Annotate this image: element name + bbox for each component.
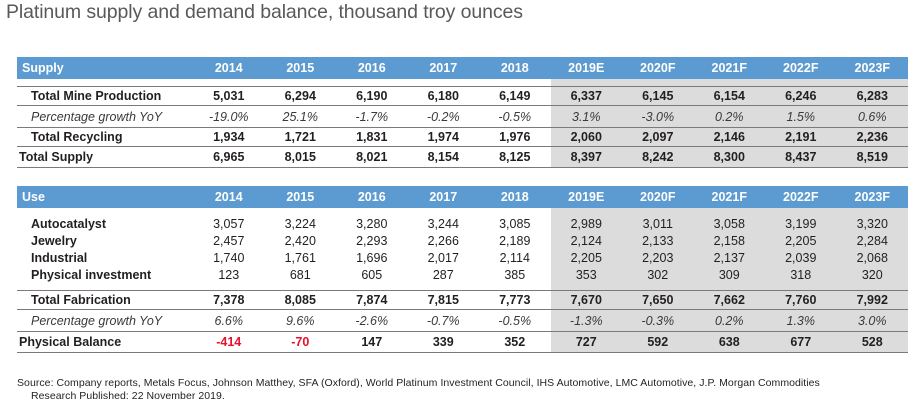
cell-2019E: 353: [551, 266, 623, 283]
cell-2020F: 302: [622, 266, 694, 283]
cell-2023F: 8,519: [837, 147, 909, 168]
cell-2017: 2,017: [408, 249, 480, 266]
cell-2019E: 2,205: [551, 249, 623, 266]
spacer-row: [17, 283, 908, 291]
use-header-row: Use 2014 2015 2016 2017 2018 2019E 2020F…: [17, 186, 908, 208]
cell-2015: 6,294: [265, 87, 337, 106]
spacer-cell: [622, 79, 694, 87]
cell-2018: 7,773: [479, 291, 551, 310]
supply-header-row: Supply 2014 2015 2016 2017 2018 2019E 20…: [17, 57, 908, 79]
row-label: Jewelry: [17, 232, 193, 249]
cell-2017: 7,815: [408, 291, 480, 310]
cell-2022F: 318: [765, 266, 837, 283]
cell-2015: 1,761: [265, 249, 337, 266]
cell-2020F: 2,097: [622, 128, 694, 147]
source-line-2: Research Published: 22 November 2019.: [17, 390, 912, 403]
spacer-cell: [765, 79, 837, 87]
cell-2023F: 6,283: [837, 87, 909, 106]
cell-2016: 147: [336, 332, 408, 353]
cell-2022F: 2,205: [765, 232, 837, 249]
spacer-cell: [837, 283, 909, 291]
spacer-cell: [479, 283, 551, 291]
cell-2022F: 6,246: [765, 87, 837, 106]
cell-2014: 6,965: [193, 147, 265, 168]
cell-2022F: 1.3%: [765, 310, 837, 332]
cell-2020F: -3.0%: [622, 106, 694, 128]
cell-2023F: 3,320: [837, 215, 909, 232]
spacer-cell: [622, 283, 694, 291]
spacer-cell: [336, 79, 408, 87]
cell-2016: 605: [336, 266, 408, 283]
cell-2016: -1.7%: [336, 106, 408, 128]
cell-2021F: 7,662: [694, 291, 766, 310]
spacer-cell: [17, 283, 193, 291]
use-column-header-2015: 2015: [265, 186, 337, 208]
table-row: Total Supply6,9658,0158,0218,1548,1258,3…: [17, 147, 908, 168]
cell-2017: 287: [408, 266, 480, 283]
cell-2020F: 2,133: [622, 232, 694, 249]
column-header-2023F: 2023F: [837, 57, 909, 79]
table-row: Physical investment123681605287385353302…: [17, 266, 908, 283]
spacer-cell: [551, 79, 623, 87]
spacer-cell: [551, 283, 623, 291]
row-label: Physical investment: [17, 266, 193, 283]
spacer-cell: [479, 208, 551, 215]
cell-2014: -19.0%: [193, 106, 265, 128]
spacer-cell: [694, 79, 766, 87]
spacer-cell: [336, 283, 408, 291]
cell-2019E: 2,989: [551, 215, 623, 232]
supply-table: Supply 2014 2015 2016 2017 2018 2019E 20…: [17, 57, 908, 168]
cell-2014: -414: [193, 332, 265, 353]
cell-2021F: 309: [694, 266, 766, 283]
cell-2023F: 320: [837, 266, 909, 283]
cell-2016: 3,280: [336, 215, 408, 232]
cell-2017: 6,180: [408, 87, 480, 106]
cell-2015: 681: [265, 266, 337, 283]
cell-2022F: 1.5%: [765, 106, 837, 128]
spacer-cell: [765, 283, 837, 291]
cell-2020F: 7,650: [622, 291, 694, 310]
cell-2021F: 2,137: [694, 249, 766, 266]
cell-2019E: 8,397: [551, 147, 623, 168]
cell-2018: 1,976: [479, 128, 551, 147]
spacer-cell: [408, 79, 480, 87]
row-label: Total Recycling: [17, 128, 193, 147]
cell-2014: 3,057: [193, 215, 265, 232]
spacer-cell: [551, 208, 623, 215]
cell-2016: 1,696: [336, 249, 408, 266]
cell-2018: 2,189: [479, 232, 551, 249]
cell-2021F: 8,300: [694, 147, 766, 168]
cell-2017: 2,266: [408, 232, 480, 249]
cell-2017: 1,974: [408, 128, 480, 147]
cell-2016: 6,190: [336, 87, 408, 106]
table-row: Total Mine Production5,0316,2946,1906,18…: [17, 87, 908, 106]
column-header-2017: 2017: [408, 57, 480, 79]
column-header-2021F: 2021F: [694, 57, 766, 79]
spacer-cell: [408, 208, 480, 215]
spacer-cell: [17, 79, 193, 87]
source-footnote: Source: Company reports, Metals Focus, J…: [17, 377, 912, 403]
use-table-body: Autocatalyst3,0573,2243,2803,2443,0852,9…: [17, 208, 908, 353]
cell-2021F: 2,158: [694, 232, 766, 249]
spacer-row: [17, 79, 908, 87]
cell-2019E: 3.1%: [551, 106, 623, 128]
cell-2018: -0.5%: [479, 106, 551, 128]
cell-2016: -2.6%: [336, 310, 408, 332]
cell-2015: 25.1%: [265, 106, 337, 128]
spacer-cell: [408, 283, 480, 291]
spacer-cell: [694, 208, 766, 215]
cell-2015: -70: [265, 332, 337, 353]
cell-2020F: 6,145: [622, 87, 694, 106]
cell-2020F: 2,203: [622, 249, 694, 266]
use-header-label: Use: [17, 186, 193, 208]
cell-2019E: 7,670: [551, 291, 623, 310]
spacer-cell: [17, 208, 193, 215]
cell-2014: 1,740: [193, 249, 265, 266]
spacer-cell: [479, 79, 551, 87]
cell-2016: 1,831: [336, 128, 408, 147]
cell-2015: 1,721: [265, 128, 337, 147]
column-header-2015: 2015: [265, 57, 337, 79]
cell-2023F: 0.6%: [837, 106, 909, 128]
cell-2014: 7,378: [193, 291, 265, 310]
cell-2014: 123: [193, 266, 265, 283]
cell-2018: -0.5%: [479, 310, 551, 332]
use-column-header-2018: 2018: [479, 186, 551, 208]
column-header-2022F: 2022F: [765, 57, 837, 79]
spacer-cell: [193, 208, 265, 215]
use-column-header-2022F: 2022F: [765, 186, 837, 208]
cell-2021F: 0.2%: [694, 106, 766, 128]
table-row: Percentage growth YoY6.6%9.6%-2.6%-0.7%-…: [17, 310, 908, 332]
cell-2015: 3,224: [265, 215, 337, 232]
column-header-2019E: 2019E: [551, 57, 623, 79]
cell-2018: 8,125: [479, 147, 551, 168]
cell-2018: 3,085: [479, 215, 551, 232]
cell-2023F: 2,068: [837, 249, 909, 266]
cell-2022F: 3,199: [765, 215, 837, 232]
spacer-cell: [837, 79, 909, 87]
cell-2023F: 3.0%: [837, 310, 909, 332]
cell-2020F: 8,242: [622, 147, 694, 168]
use-column-header-2017: 2017: [408, 186, 480, 208]
cell-2022F: 677: [765, 332, 837, 353]
cell-2019E: 727: [551, 332, 623, 353]
row-label: Percentage growth YoY: [17, 106, 193, 128]
cell-2023F: 7,992: [837, 291, 909, 310]
cell-2018: 2,114: [479, 249, 551, 266]
column-header-2014: 2014: [193, 57, 265, 79]
cell-2020F: 592: [622, 332, 694, 353]
spacer-cell: [193, 283, 265, 291]
cell-2015: 9.6%: [265, 310, 337, 332]
cell-2019E: 6,337: [551, 87, 623, 106]
cell-2014: 1,934: [193, 128, 265, 147]
supply-header-label: Supply: [17, 57, 193, 79]
use-column-header-2021F: 2021F: [694, 186, 766, 208]
cell-2016: 7,874: [336, 291, 408, 310]
cell-2014: 2,457: [193, 232, 265, 249]
cell-2023F: 528: [837, 332, 909, 353]
spacer-cell: [265, 283, 337, 291]
cell-2022F: 7,760: [765, 291, 837, 310]
supply-table-container: Supply 2014 2015 2016 2017 2018 2019E 20…: [17, 57, 908, 168]
spacer-cell: [336, 208, 408, 215]
cell-2017: -0.2%: [408, 106, 480, 128]
cell-2017: 3,244: [408, 215, 480, 232]
cell-2019E: 2,060: [551, 128, 623, 147]
spacer-cell: [622, 208, 694, 215]
column-header-2018: 2018: [479, 57, 551, 79]
cell-2021F: 3,058: [694, 215, 766, 232]
cell-2021F: 6,154: [694, 87, 766, 106]
spacer-cell: [694, 283, 766, 291]
cell-2021F: 638: [694, 332, 766, 353]
cell-2023F: 2,284: [837, 232, 909, 249]
cell-2021F: 2,146: [694, 128, 766, 147]
cell-2016: 8,021: [336, 147, 408, 168]
row-label: Total Fabrication: [17, 291, 193, 310]
cell-2015: 8,015: [265, 147, 337, 168]
table-row: Percentage growth YoY-19.0%25.1%-1.7%-0.…: [17, 106, 908, 128]
table-page: Platinum supply and demand balance, thou…: [0, 0, 922, 408]
row-label: Industrial: [17, 249, 193, 266]
table-row: Jewelry2,4572,4202,2932,2662,1892,1242,1…: [17, 232, 908, 249]
cell-2019E: -1.3%: [551, 310, 623, 332]
spacer-row: [17, 208, 908, 215]
row-label: Total Supply: [17, 147, 193, 168]
spacer-cell: [265, 79, 337, 87]
column-header-2020F: 2020F: [622, 57, 694, 79]
use-table: Use 2014 2015 2016 2017 2018 2019E 2020F…: [17, 186, 908, 353]
cell-2017: 8,154: [408, 147, 480, 168]
cell-2023F: 2,236: [837, 128, 909, 147]
cell-2014: 5,031: [193, 87, 265, 106]
column-header-2016: 2016: [336, 57, 408, 79]
cell-2017: 339: [408, 332, 480, 353]
cell-2015: 2,420: [265, 232, 337, 249]
spacer-cell: [837, 208, 909, 215]
cell-2017: -0.7%: [408, 310, 480, 332]
spacer-cell: [765, 208, 837, 215]
use-column-header-2023F: 2023F: [837, 186, 909, 208]
cell-2022F: 2,191: [765, 128, 837, 147]
row-label: Autocatalyst: [17, 215, 193, 232]
cell-2016: 2,293: [336, 232, 408, 249]
supply-table-body: Total Mine Production5,0316,2946,1906,18…: [17, 79, 908, 168]
cell-2014: 6.6%: [193, 310, 265, 332]
source-line-1: Source: Company reports, Metals Focus, J…: [17, 377, 912, 390]
row-label: Percentage growth YoY: [17, 310, 193, 332]
table-row: Autocatalyst3,0573,2243,2803,2443,0852,9…: [17, 215, 908, 232]
use-column-header-2014: 2014: [193, 186, 265, 208]
cell-2018: 385: [479, 266, 551, 283]
table-row: Physical Balance-414-7014733935272759263…: [17, 332, 908, 353]
cell-2022F: 2,039: [765, 249, 837, 266]
cell-2018: 6,149: [479, 87, 551, 106]
cell-2022F: 8,437: [765, 147, 837, 168]
cell-2018: 352: [479, 332, 551, 353]
use-column-header-2020F: 2020F: [622, 186, 694, 208]
cell-2020F: -0.3%: [622, 310, 694, 332]
row-label: Physical Balance: [17, 332, 193, 353]
spacer-cell: [265, 208, 337, 215]
table-row: Total Fabrication7,3788,0857,8747,8157,7…: [17, 291, 908, 310]
use-table-container: Use 2014 2015 2016 2017 2018 2019E 2020F…: [17, 186, 908, 353]
use-column-header-2019E: 2019E: [551, 186, 623, 208]
cell-2020F: 3,011: [622, 215, 694, 232]
row-label: Total Mine Production: [17, 87, 193, 106]
cell-2015: 8,085: [265, 291, 337, 310]
cell-2021F: 0.2%: [694, 310, 766, 332]
use-column-header-2016: 2016: [336, 186, 408, 208]
cell-2019E: 2,124: [551, 232, 623, 249]
table-row: Total Recycling1,9341,7211,8311,9741,976…: [17, 128, 908, 147]
table-row: Industrial1,7401,7611,6962,0172,1142,205…: [17, 249, 908, 266]
spacer-cell: [193, 79, 265, 87]
page-title: Platinum supply and demand balance, thou…: [6, 1, 523, 24]
